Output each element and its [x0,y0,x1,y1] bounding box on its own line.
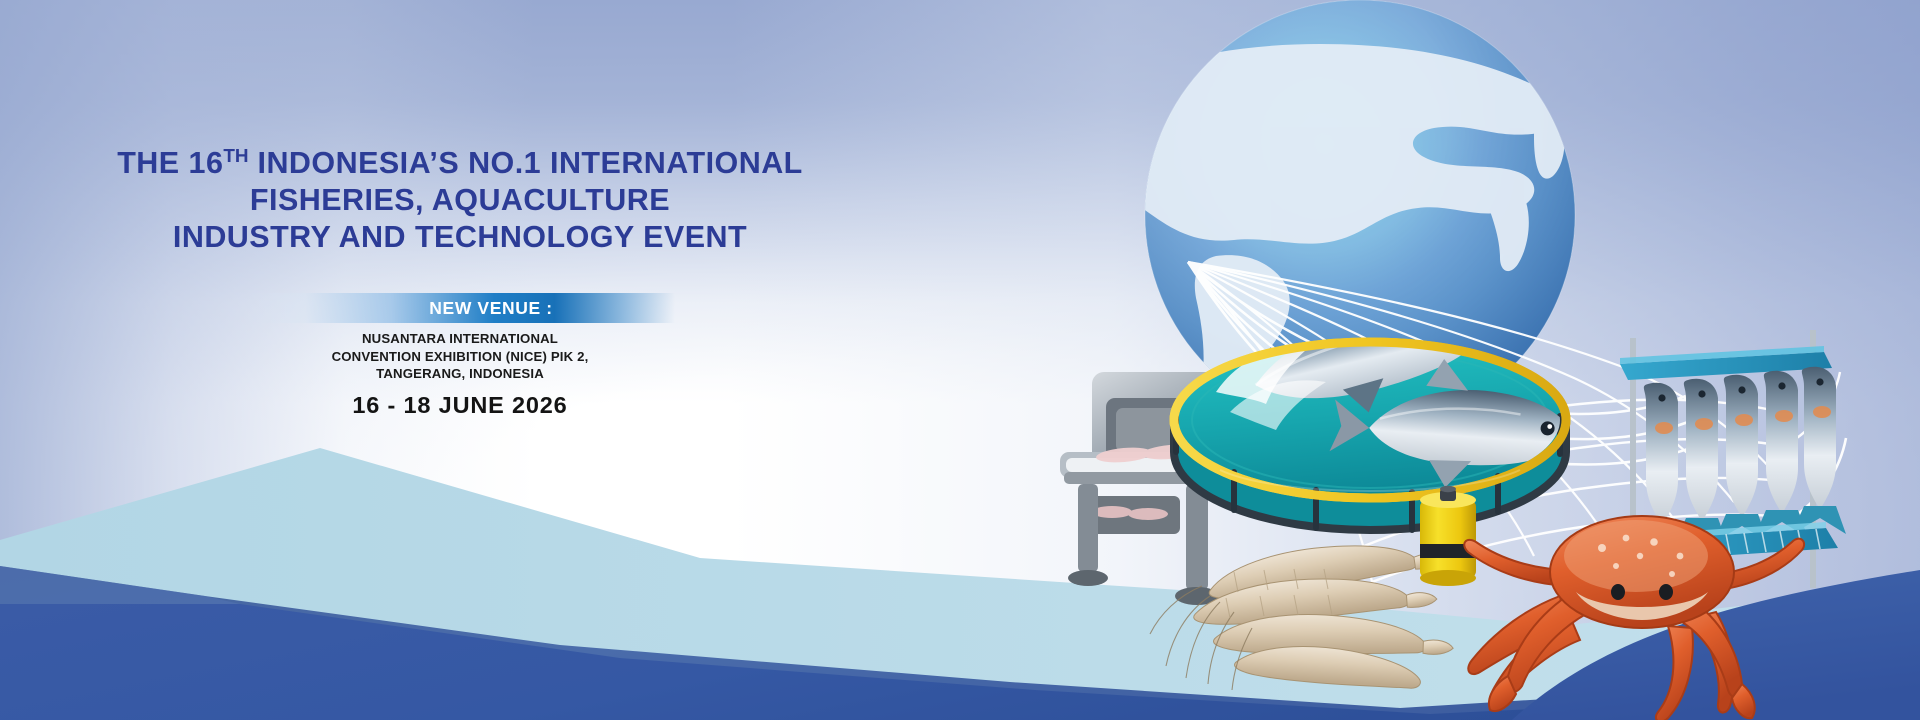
venue-address-line-3: TANGERANG, INDONESIA [376,366,544,381]
new-venue-badge: NEW VENUE : [0,293,920,323]
headline-line-3: INDUSTRY AND TECHNOLOGY EVENT [173,220,747,254]
event-dates: 16 - 18 JUNE 2026 [0,392,920,419]
venue-address-line-1: NUSANTARA INTERNATIONAL [362,331,558,346]
venue-address: NUSANTARA INTERNATIONALCONVENTION EXHIBI… [0,330,920,383]
event-banner: THE 16TH INDONESIA’S NO.1 INTERNATIONALF… [0,0,1920,720]
headline-ordinal-suffix: TH [223,146,248,167]
headline-line-2: FISHERIES, AQUACULTURE [250,183,670,217]
page-title: THE 16TH INDONESIA’S NO.1 INTERNATIONALF… [0,138,920,256]
new-venue-badge-label: NEW VENUE : [0,293,920,323]
seafood-artwork-collage [1020,0,1920,720]
venue-address-line-2: CONVENTION EXHIBITION (NICE) PIK 2, [332,349,589,364]
buoy-icon [1420,486,1476,586]
headline-line-1-pre: THE 16 [117,146,223,180]
headline-line-1-post: INDONESIA’S NO.1 INTERNATIONAL [249,146,803,180]
banner-text-block: THE 16TH INDONESIA’S NO.1 INTERNATIONALF… [0,138,920,419]
